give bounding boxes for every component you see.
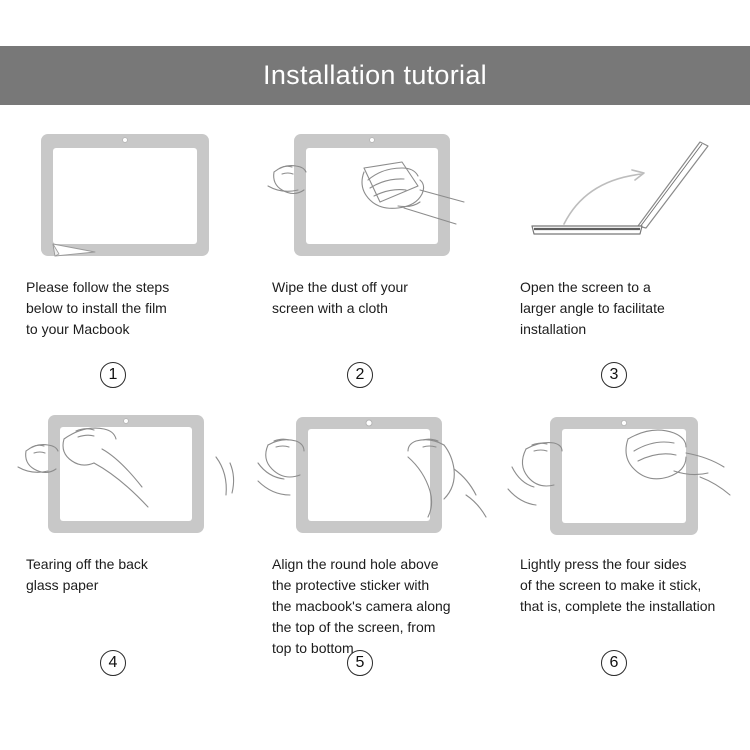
- tutorial-step-5: Align the round hole above the protectiv…: [250, 402, 500, 692]
- step-4-number-wrap: 4: [0, 650, 250, 676]
- step-1-illustration: [0, 125, 250, 265]
- step-2-number-wrap: 2: [250, 362, 500, 388]
- step-4-illustration: [0, 402, 250, 542]
- hands-pressing-screen-sides-icon: [508, 405, 743, 540]
- step-6-number-wrap: 6: [500, 650, 750, 676]
- laptop-opening-angle-icon: [518, 128, 733, 263]
- header-banner: Installation tutorial: [0, 46, 750, 105]
- step-3-illustration: [500, 125, 750, 265]
- tutorial-step-4: Tearing off the back glass paper 4: [0, 402, 250, 692]
- step-4-caption: Tearing off the back glass paper: [0, 554, 250, 596]
- step-number-badge: 6: [601, 650, 627, 676]
- page-title: Installation tutorial: [263, 62, 487, 89]
- step-6-illustration: [500, 402, 750, 542]
- hand-wiping-screen-with-cloth-icon: [268, 128, 483, 263]
- step-5-number-wrap: 5: [250, 650, 500, 676]
- tutorial-step-2: Wipe the dust off your screen with a clo…: [250, 125, 500, 402]
- tutorial-steps-grid: Please follow the steps below to install…: [0, 125, 750, 692]
- hands-tearing-back-paper-icon: [18, 405, 233, 540]
- step-3-number-wrap: 3: [500, 362, 750, 388]
- tutorial-step-6: Lightly press the four sides of the scre…: [500, 402, 750, 692]
- step-6-caption: Lightly press the four sides of the scre…: [500, 554, 750, 617]
- step-1-number-wrap: 1: [0, 362, 250, 388]
- step-number-badge: 3: [601, 362, 627, 388]
- tutorial-step-3: Open the screen to a larger angle to fac…: [500, 125, 750, 402]
- step-5-illustration: [250, 402, 500, 542]
- step-5-caption: Align the round hole above the protectiv…: [250, 554, 500, 659]
- step-2-illustration: [250, 125, 500, 265]
- step-1-caption: Please follow the steps below to install…: [0, 277, 250, 340]
- screen-with-peeling-film-corner-icon: [35, 128, 215, 263]
- step-2-caption: Wipe the dust off your screen with a clo…: [250, 277, 500, 319]
- step-number-badge: 5: [347, 650, 373, 676]
- step-3-caption: Open the screen to a larger angle to fac…: [500, 277, 750, 340]
- step-number-badge: 2: [347, 362, 373, 388]
- step-number-badge: 1: [100, 362, 126, 388]
- tutorial-step-1: Please follow the steps below to install…: [0, 125, 250, 402]
- step-number-badge: 4: [100, 650, 126, 676]
- two-hands-aligning-film-icon: [258, 405, 493, 540]
